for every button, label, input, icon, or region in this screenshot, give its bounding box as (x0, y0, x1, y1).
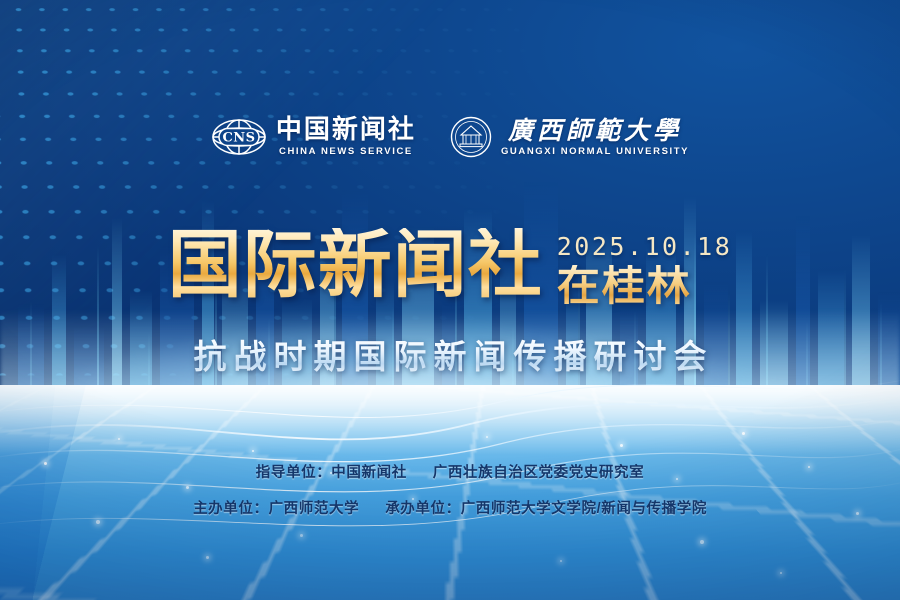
host-label: 主办单位： (193, 501, 269, 517)
event-date: 2025.10.18 (557, 234, 733, 259)
logo-guangxi-normal-university: 廣西師範大學 GUANGXI NORMAL UNIVERSITY (450, 116, 689, 158)
co-host-label: 承办单位： (385, 501, 461, 517)
credit-line-guidance: 指导单位：中国新闻社广西壮族自治区党委党史研究室 (0, 466, 900, 481)
cns-logo-chinese-name: 中国新闻社 (276, 117, 416, 143)
cns-logo-english-name: CHINA NEWS SERVICE (279, 147, 413, 157)
event-city: 在桂林 (557, 265, 692, 308)
svg-text:CNS: CNS (222, 131, 255, 146)
sponsor-logo-row: CNS 中国新闻社 CHINA NEWS SERVICE (0, 116, 900, 158)
cns-globe-icon: CNS (211, 118, 267, 156)
gxnu-seal-icon (450, 116, 492, 158)
event-poster: CNS 中国新闻社 CHINA NEWS SERVICE (0, 0, 900, 600)
gxnu-logo-english-name: GUANGXI NORMAL UNIVERSITY (501, 147, 689, 157)
host-value: 广西师范大学 (269, 501, 360, 517)
credits-block: 指导单位：中国新闻社广西壮族自治区党委党史研究室 主办单位：广西师范大学承办单位… (0, 466, 900, 516)
guidance-label: 指导单位： (256, 465, 332, 481)
title-block: 国际新闻社 2025.10.18 在桂林 (0, 228, 900, 308)
co-host-value: 广西师范大学文学院/新闻与传播学院 (461, 501, 707, 517)
guidance-value-secondary: 广西壮族自治区党委党史研究室 (433, 465, 644, 481)
gxnu-logo-chinese-name: 廣西師範大學 (508, 118, 682, 143)
guidance-value: 中国新闻社 (331, 465, 407, 481)
credit-line-organizers: 主办单位：广西师范大学承办单位：广西师范大学文学院/新闻与传播学院 (0, 502, 900, 517)
event-subtitle: 抗战时期国际新闻传播研讨会 (0, 330, 900, 378)
main-title: 国际新闻社 (168, 228, 543, 302)
logo-china-news-service: CNS 中国新闻社 CHINA NEWS SERVICE (211, 117, 416, 157)
